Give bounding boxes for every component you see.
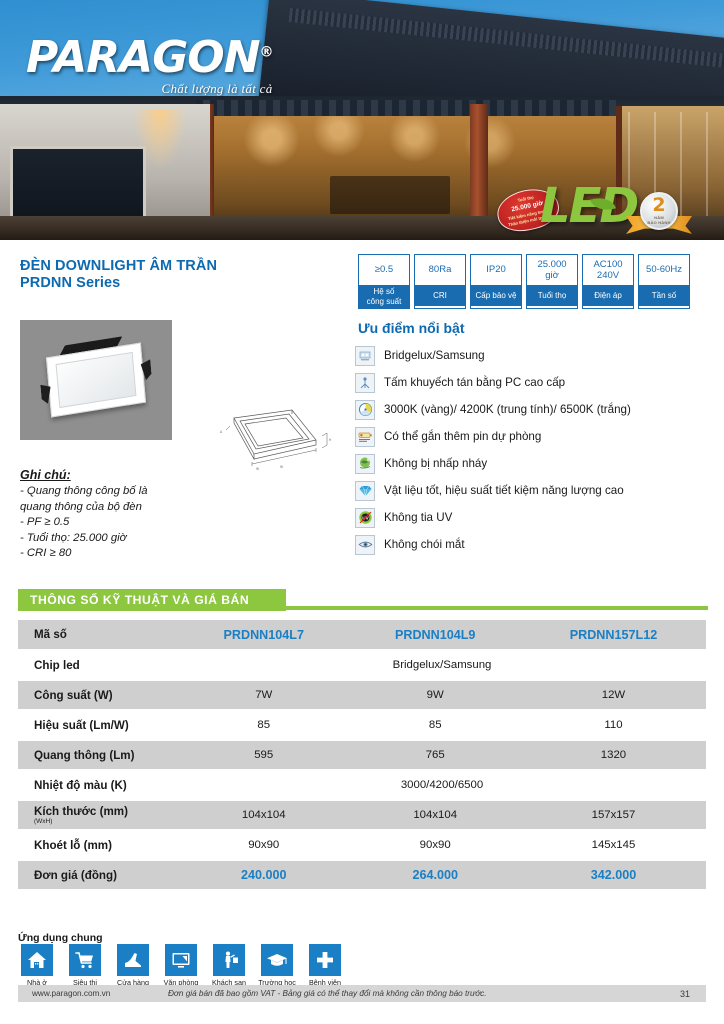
feature-text: Tấm khuyếch tán bằng PC cao cấp (384, 376, 565, 389)
note-heading: Ghi chú: (20, 468, 71, 482)
feature-item: Vật liệu tốt, hiệu suất tiết kiệm năng l… (355, 477, 711, 504)
cell-value: 104x104 (178, 800, 349, 830)
table-row: Nhiệt độ màu (K) 3000/4200/6500 (18, 770, 706, 800)
cell-price: 240.000 (178, 860, 349, 890)
product-title-line1: ĐÈN DOWNLIGHT ÂM TRẦN (20, 258, 217, 275)
cell-value: 3000/4200/6500 (178, 770, 706, 800)
warranty-seal: 2 NĂM BẢO HÀNH (634, 190, 684, 240)
footer-disclaimer: Đơn giá bán đã bao gồm VAT - Bảng giá có… (168, 989, 680, 998)
spec-badge-value: 50-60Hz (639, 255, 689, 285)
section-header: THÔNG SỐ KỸ THUẬT VÀ GIÁ BÁN (18, 589, 708, 611)
brand-name: PARAGON® (26, 36, 273, 80)
cell-price: 264.000 (349, 860, 520, 890)
table-row: Hiệu suất (Lm/W) 85 85 110 (18, 710, 706, 740)
catalog-page: PARAGON® Chất lượng là tất cả Tuổi thọ 2… (0, 0, 724, 1024)
feature-text: Không chói mắt (384, 538, 465, 551)
diffuser-panel-icon (355, 373, 375, 393)
spec-badge-label: Tuổi thọ (527, 285, 577, 306)
spec-badge-label: Điện áp (583, 285, 633, 306)
row-label: Hiệu suất (Lm/W) (18, 710, 178, 740)
shoe-store-icon (117, 944, 149, 976)
row-label-sub: (WxH) (34, 818, 174, 825)
cell-value: 9W (349, 680, 520, 710)
svg-text:A: A (220, 430, 223, 434)
page-number: 31 (680, 989, 706, 999)
note-line: quang thông của bộ đèn (20, 500, 320, 515)
note-line: - Tuổi thọ: 25.000 giờ (20, 531, 320, 546)
spec-badge-ip-rating: IP20 Cấp bảo vệ (470, 254, 522, 309)
spec-badge-value: ≥0.5 (359, 255, 409, 285)
spec-badge-lifetime: 25.000giờ Tuổi thọ (526, 254, 578, 309)
applications-row: Nhà ở Siêu thị Cửa hàng Văn phòng Khách (18, 944, 344, 987)
table-row: Công suất (W) 7W 9W 12W (18, 680, 706, 710)
product-title: ĐÈN DOWNLIGHT ÂM TRẦN PRDNN Series (20, 258, 217, 292)
feature-text: Vật liệu tốt, hiệu suất tiết kiệm năng l… (384, 484, 624, 497)
feature-item: Tấm khuyếch tán bằng PC cao cấp (355, 369, 711, 396)
row-label: Công suất (W) (18, 680, 178, 710)
cell-value: 145x145 (521, 830, 706, 860)
cell-value: 104x104 (349, 800, 520, 830)
note-block: Ghi chú: - Quang thông công bố là quang … (20, 468, 320, 561)
note-line: - PF ≥ 0.5 (20, 515, 320, 530)
table-row: Khoét lỗ (mm) 90x90 90x90 145x145 (18, 830, 706, 860)
cell-value: 90x90 (349, 830, 520, 860)
application-item: Bệnh viện (306, 944, 344, 987)
registered-mark: ® (260, 44, 273, 60)
row-label: Đơn giá (đồng) (18, 860, 178, 890)
spec-badge-frequency: 50-60Hz Tần số (638, 254, 690, 309)
spec-badge-voltage: AC100240V Điện áp (582, 254, 634, 309)
brand-logo: PARAGON® Chất lượng là tất cả (26, 36, 273, 97)
table-row: Chip led Bridgelux/Samsung (18, 650, 706, 680)
section-header-bar: THÔNG SỐ KỸ THUẬT VÀ GIÁ BÁN (18, 589, 286, 611)
section-header-title: THÔNG SỐ KỸ THUẬT VÀ GIÁ BÁN (18, 593, 249, 607)
cell-value: 157x157 (521, 800, 706, 830)
feature-text: Không tia UV (384, 511, 452, 524)
note-line: - Quang thông công bố là (20, 484, 320, 499)
table-row: Mã số PRDNN104L7 PRDNN104L9 PRDNN157L12 (18, 620, 706, 650)
table-row: Đơn giá (đồng) 240.000 264.000 342.000 (18, 860, 706, 890)
feature-item: 3000K (vàng)/ 4200K (trung tính)/ 6500K … (355, 396, 711, 423)
diamond-quality-icon (355, 481, 375, 501)
no-uv-icon: UV (355, 508, 375, 528)
row-label: Quang thông (Lm) (18, 740, 178, 770)
cell-value: 12W (521, 680, 706, 710)
bellhop-icon (213, 944, 245, 976)
pergola-beams (196, 100, 616, 116)
cell-value: 110 (521, 710, 706, 740)
no-flicker-icon (355, 454, 375, 474)
warranty-sub: BẢO HÀNH (647, 220, 670, 225)
cell-price: 342.000 (521, 860, 706, 890)
cell-value: 1320 (521, 740, 706, 770)
spec-badge-cri: 80Ra CRI (414, 254, 466, 309)
feature-text: Có thể gắn thêm pin dự phòng (384, 430, 541, 443)
spec-badge-label: Cấp bảo vệ (471, 285, 521, 306)
features-list: Bridgelux/Samsung Tấm khuyếch tán bằng P… (355, 342, 711, 558)
spec-badge-value: IP20 (471, 255, 521, 285)
application-item: Nhà ở (18, 944, 56, 987)
hero-banner: PARAGON® Chất lượng là tất cả Tuổi thọ 2… (0, 0, 724, 240)
cell-value: 765 (349, 740, 520, 770)
brand-tagline: Chất lượng là tất cả (26, 81, 273, 97)
wall-wash-light (134, 110, 186, 168)
anti-glare-eye-icon (355, 535, 375, 555)
spec-badge-value: 25.000giờ (527, 255, 577, 285)
led-chip-icon (355, 346, 375, 366)
features-title: Ưu điểm nổi bật (358, 320, 465, 336)
page-footer: www.paragon.com.vn Đơn giá bán đã bao gồ… (18, 985, 706, 1002)
house-icon (21, 944, 53, 976)
downlight-fixture-render (46, 343, 146, 418)
graduation-cap-icon (261, 944, 293, 976)
spec-badge-value: 80Ra (415, 255, 465, 285)
application-item: Khách sạn (210, 944, 248, 987)
warranty-years: 2 (652, 197, 665, 214)
footer-website[interactable]: www.paragon.com.vn (18, 989, 168, 998)
cell-value: PRDNN157L12 (521, 620, 706, 650)
feature-item: Không chói mắt (355, 531, 711, 558)
feature-item: Không bị nhấp nháy (355, 450, 711, 477)
led-wordmark: LED (540, 182, 637, 230)
note-line: - CRI ≥ 80 (20, 546, 320, 561)
table-row: Quang thông (Lm) 595 765 1320 (18, 740, 706, 770)
cell-value: 7W (178, 680, 349, 710)
monitor-icon (165, 944, 197, 976)
row-label: Khoét lỗ (mm) (18, 830, 178, 860)
spec-badge-row: ≥0.5 Hệ sốcông suất 80Ra CRI IP20 Cấp bả… (358, 254, 690, 309)
product-title-line2: PRDNN Series (20, 275, 217, 292)
cell-value: Bridgelux/Samsung (178, 650, 706, 680)
application-item: Văn phòng (162, 944, 200, 987)
spec-badge-label: Tần số (639, 285, 689, 306)
backup-battery-icon (355, 427, 375, 447)
spec-table: Mã số PRDNN104L7 PRDNN104L9 PRDNN157L12 … (18, 620, 706, 891)
section-header-rule (286, 606, 708, 610)
spec-badge-value: AC100240V (583, 255, 633, 285)
table-row: Kích thước (mm) (WxH) 104x104 104x104 15… (18, 800, 706, 830)
feature-item: UV Không tia UV (355, 504, 711, 531)
cell-value: 90x90 (178, 830, 349, 860)
medical-cross-icon (309, 944, 341, 976)
application-item: Trường học (258, 944, 296, 987)
cell-value: 85 (178, 710, 349, 740)
cell-value: 85 (349, 710, 520, 740)
application-item: Siêu thị (66, 944, 104, 987)
row-label: Chip led (18, 650, 178, 680)
product-photo (20, 320, 172, 440)
row-label: Nhiệt độ màu (K) (18, 770, 178, 800)
spec-badge-label: Hệ sốcông suất (359, 285, 409, 308)
application-item: Cửa hàng (114, 944, 152, 987)
cell-value: PRDNN104L7 (178, 620, 349, 650)
svg-text:H: H (329, 438, 332, 442)
feature-text: 3000K (vàng)/ 4200K (trung tính)/ 6500K … (384, 403, 631, 416)
feature-item: Bridgelux/Samsung (355, 342, 711, 369)
row-label: Kích thước (mm) (WxH) (18, 800, 178, 830)
patio-furniture (330, 176, 450, 214)
color-temperature-icon (355, 400, 375, 420)
feature-text: Bridgelux/Samsung (384, 349, 485, 362)
spec-badge-power-factor: ≥0.5 Hệ sốcông suất (358, 254, 410, 309)
seal-disc: 2 NĂM BẢO HÀNH (640, 192, 678, 230)
technical-drawing: A H W W (196, 400, 346, 472)
applications-title: Ứng dụng chung (18, 932, 103, 944)
feature-item: Có thể gắn thêm pin dự phòng (355, 423, 711, 450)
spec-badge-label: CRI (415, 285, 465, 306)
row-label-text: Kích thước (mm) (34, 805, 128, 818)
shopping-cart-icon (69, 944, 101, 976)
cell-value: PRDNN104L9 (349, 620, 520, 650)
cell-value: 595 (178, 740, 349, 770)
feature-text: Không bị nhấp nháy (384, 457, 487, 470)
row-label: Mã số (18, 620, 178, 650)
